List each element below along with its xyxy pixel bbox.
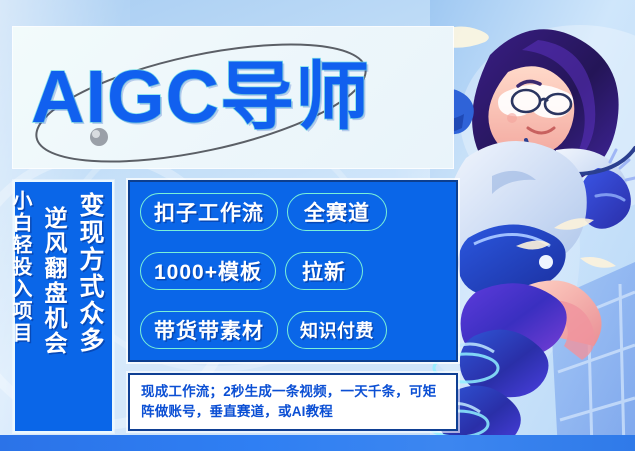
slogan-column-beginner: 小白轻投入项目 [6,190,35,344]
vr-woman-illustration [430,0,635,451]
tag-1000-templates[interactable]: 1000+模板 [140,252,276,290]
tag-coze-workflow[interactable]: 扣子工作流 [140,193,278,231]
tag-user-growth[interactable]: 拉新 [285,252,363,290]
page-title: AIGC导师 [31,47,370,147]
note-box: 现成工作流；2秒生成一条视频，一天千条，可矩阵做账号，垂直赛道，或AI教程 [128,373,458,431]
tag-all-tracks[interactable]: 全赛道 [287,193,387,231]
slogan-panel: 变现方式众多 逆风翻盘机会 小白轻投入项目 [13,180,114,433]
feature-tags-panel: 扣子工作流 全赛道 1000+模板 拉新 带货带素材 知识付费 [128,180,458,362]
tag-ecommerce-assets[interactable]: 带货带素材 [140,311,278,349]
tag-paid-knowledge[interactable]: 知识付费 [287,311,387,349]
poster-root: AIGC导师 变现方式众多 逆风翻盘机会 小白轻投入项目 扣子工作流 全赛道 1… [0,0,635,451]
tag-row: 带货带素材 知识付费 [140,311,446,349]
tag-row: 扣子工作流 全赛道 [140,193,446,231]
tag-row: 1000+模板 拉新 [140,252,446,290]
title-panel: AIGC导师 [13,27,453,168]
note-text: 现成工作流；2秒生成一条视频，一天千条，可矩阵做账号，垂直赛道，或AI教程 [141,382,445,422]
slogan-column-monetization: 变现方式众多 [72,192,108,354]
slogan-column-comeback: 逆风翻盘机会 [37,206,71,356]
